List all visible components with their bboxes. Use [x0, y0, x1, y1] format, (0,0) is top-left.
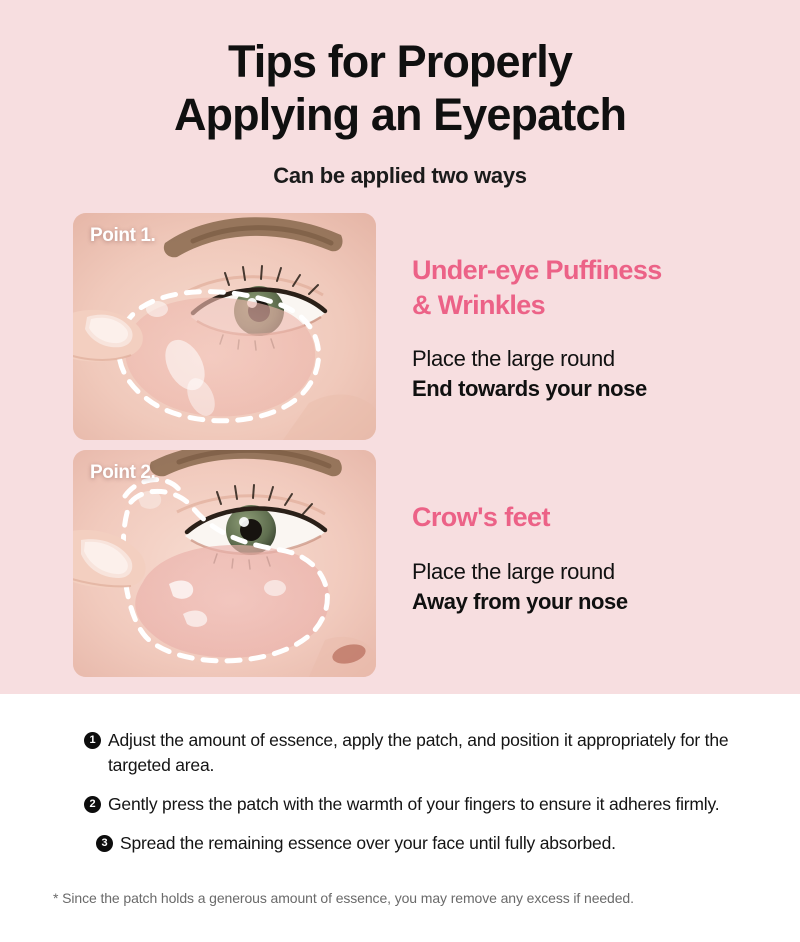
- eyepatch-photo-1: Point 1.: [73, 213, 376, 440]
- page-title: Tips for Properly Applying an Eyepatch C…: [0, 36, 800, 189]
- step-number-badge: 3: [96, 835, 113, 852]
- point-label-1: Point 1.: [90, 225, 155, 247]
- steps-list: 1 Adjust the amount of essence, apply th…: [84, 728, 744, 855]
- method-heading-2: Crow's feet: [412, 500, 792, 535]
- method-instruction-2-regular: Place the large round: [412, 557, 792, 587]
- step-text: Spread the remaining essence over your f…: [120, 831, 616, 856]
- list-item: 3 Spread the remaining essence over your…: [96, 831, 744, 856]
- footnote: * Since the patch holds a generous amoun…: [53, 890, 634, 906]
- title-line-2: Applying an Eyepatch: [0, 89, 800, 142]
- title-line-1: Tips for Properly: [0, 36, 800, 89]
- step-number-badge: 2: [84, 796, 101, 813]
- method-instruction-2-bold: Away from your nose: [412, 587, 792, 617]
- point-label-2: Point 2.: [90, 462, 155, 484]
- page-subtitle: Can be applied two ways: [0, 163, 800, 189]
- method-heading-1-line-1: Under-eye Puffiness: [412, 255, 662, 285]
- method-instruction-1-bold: End towards your nose: [412, 374, 792, 404]
- hero-section: Tips for Properly Applying an Eyepatch C…: [0, 0, 800, 694]
- step-number-badge: 1: [84, 732, 101, 749]
- list-item: 2 Gently press the patch with the warmth…: [84, 792, 744, 817]
- method-caption-1: Under-eye Puffiness & Wrinkles Place the…: [412, 213, 792, 405]
- list-item: 1 Adjust the amount of essence, apply th…: [84, 728, 744, 778]
- eye-illustration-1: [73, 213, 376, 440]
- step-text: Adjust the amount of essence, apply the …: [108, 728, 744, 778]
- method-heading-1-line-2: & Wrinkles: [412, 290, 545, 320]
- method-caption-2: Crow's feet Place the large round Away f…: [412, 450, 792, 617]
- steps-section: 1 Adjust the amount of essence, apply th…: [0, 694, 800, 942]
- method-instruction-1-regular: Place the large round: [412, 344, 792, 374]
- step-text: Gently press the patch with the warmth o…: [108, 792, 719, 817]
- eyepatch-photo-2: Point 2.: [73, 450, 376, 677]
- eye-illustration-2: [73, 450, 376, 677]
- method-heading-1: Under-eye Puffiness & Wrinkles: [412, 253, 792, 322]
